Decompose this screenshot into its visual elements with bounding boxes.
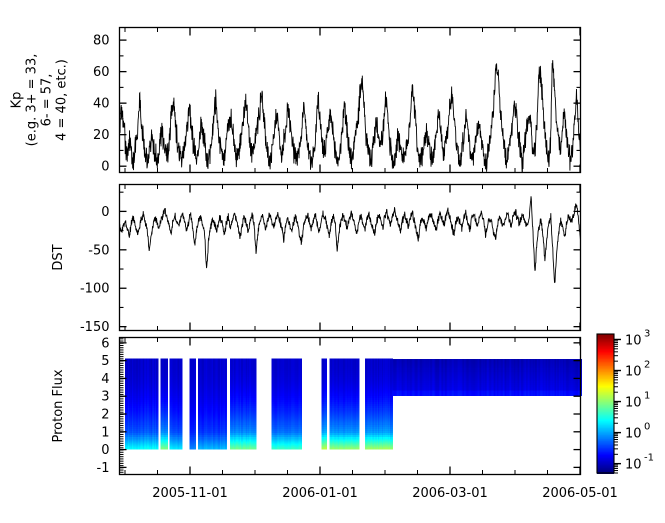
kp-axis-title: Kp(e.g. 3+ = 33,6- = 57,4 = 40, etc.) — [10, 54, 70, 147]
dst-index-ytick-label: -150 — [80, 320, 110, 335]
kp-index-ytick-label: 0 — [101, 160, 109, 175]
colorbar-tick-exponent: 3 — [644, 328, 650, 339]
kp-index-ytick-label: 20 — [93, 128, 110, 143]
proton-flux-axis-title: Proton Flux — [51, 369, 66, 442]
figure-root: 020406080-150-100-500-101234562005-11-01… — [0, 0, 665, 523]
dst-index-ytick-label: 0 — [101, 205, 109, 220]
kp-index-ytick-label: 40 — [93, 97, 110, 112]
proton-flux-spectrogram-ytick-label: 0 — [101, 443, 109, 458]
colorbar-tick-label: 10 — [625, 427, 642, 442]
proton-flux-spectrogram-ytick-label: 6 — [101, 336, 109, 351]
proton-flux-heatmap — [125, 359, 582, 450]
xtick-label: 2006-01-01 — [282, 486, 358, 501]
kp-axis-title-line: Kp — [10, 92, 25, 109]
kp-axis-title-line: 6- = 57, — [40, 74, 55, 127]
proton-flux-spectrogram-ytick-label: 4 — [101, 372, 109, 387]
plot-canvas: 020406080-150-100-500-101234562005-11-01… — [0, 0, 665, 523]
colorbar-tick-exponent: 1 — [644, 391, 650, 402]
kp-axis-title-line: 4 = 40, etc.) — [55, 59, 70, 141]
proton-flux-spectrogram-ytick-label: 1 — [101, 425, 109, 440]
proton-flux-spectrogram-ytick-label: 3 — [101, 390, 109, 405]
proton-flux-spectrogram-ytick-label: 2 — [101, 408, 109, 423]
dst-axis-title: DST — [51, 244, 66, 270]
xtick-label: 2006-05-01 — [542, 486, 618, 501]
colorbar-tick-label: 10 — [625, 365, 642, 380]
kp-index-ytick-label: 60 — [93, 65, 110, 80]
colorbar-tick-label: 10 — [625, 333, 642, 348]
colorbar-tick-exponent: 0 — [644, 422, 650, 433]
colorbar-tick-label: 10 — [625, 458, 642, 473]
proton-flux-spectrogram-ytick-label: 5 — [101, 354, 109, 369]
colorbar-tick-exponent: 2 — [644, 360, 650, 371]
colorbar-tick-label: 10 — [625, 396, 642, 411]
dst-index-trace — [120, 196, 581, 282]
kp-index-ytick-label: 80 — [93, 34, 110, 49]
colorbar-tick-exponent: -1 — [644, 453, 654, 464]
kp-axis-title-line: (e.g. 3+ = 33, — [25, 54, 40, 147]
colorbar: 10-1100101102103 — [597, 328, 654, 473]
dst-index-ytick-label: -50 — [88, 243, 109, 258]
xtick-label: 2006-03-01 — [412, 486, 488, 501]
dst-index-ytick-label: -100 — [80, 282, 110, 297]
xtick-label: 2005-11-01 — [152, 486, 228, 501]
kp-index-trace — [120, 60, 581, 172]
dst-index-frame — [120, 185, 581, 331]
proton-flux-spectrogram-ytick-label: -1 — [97, 461, 110, 476]
